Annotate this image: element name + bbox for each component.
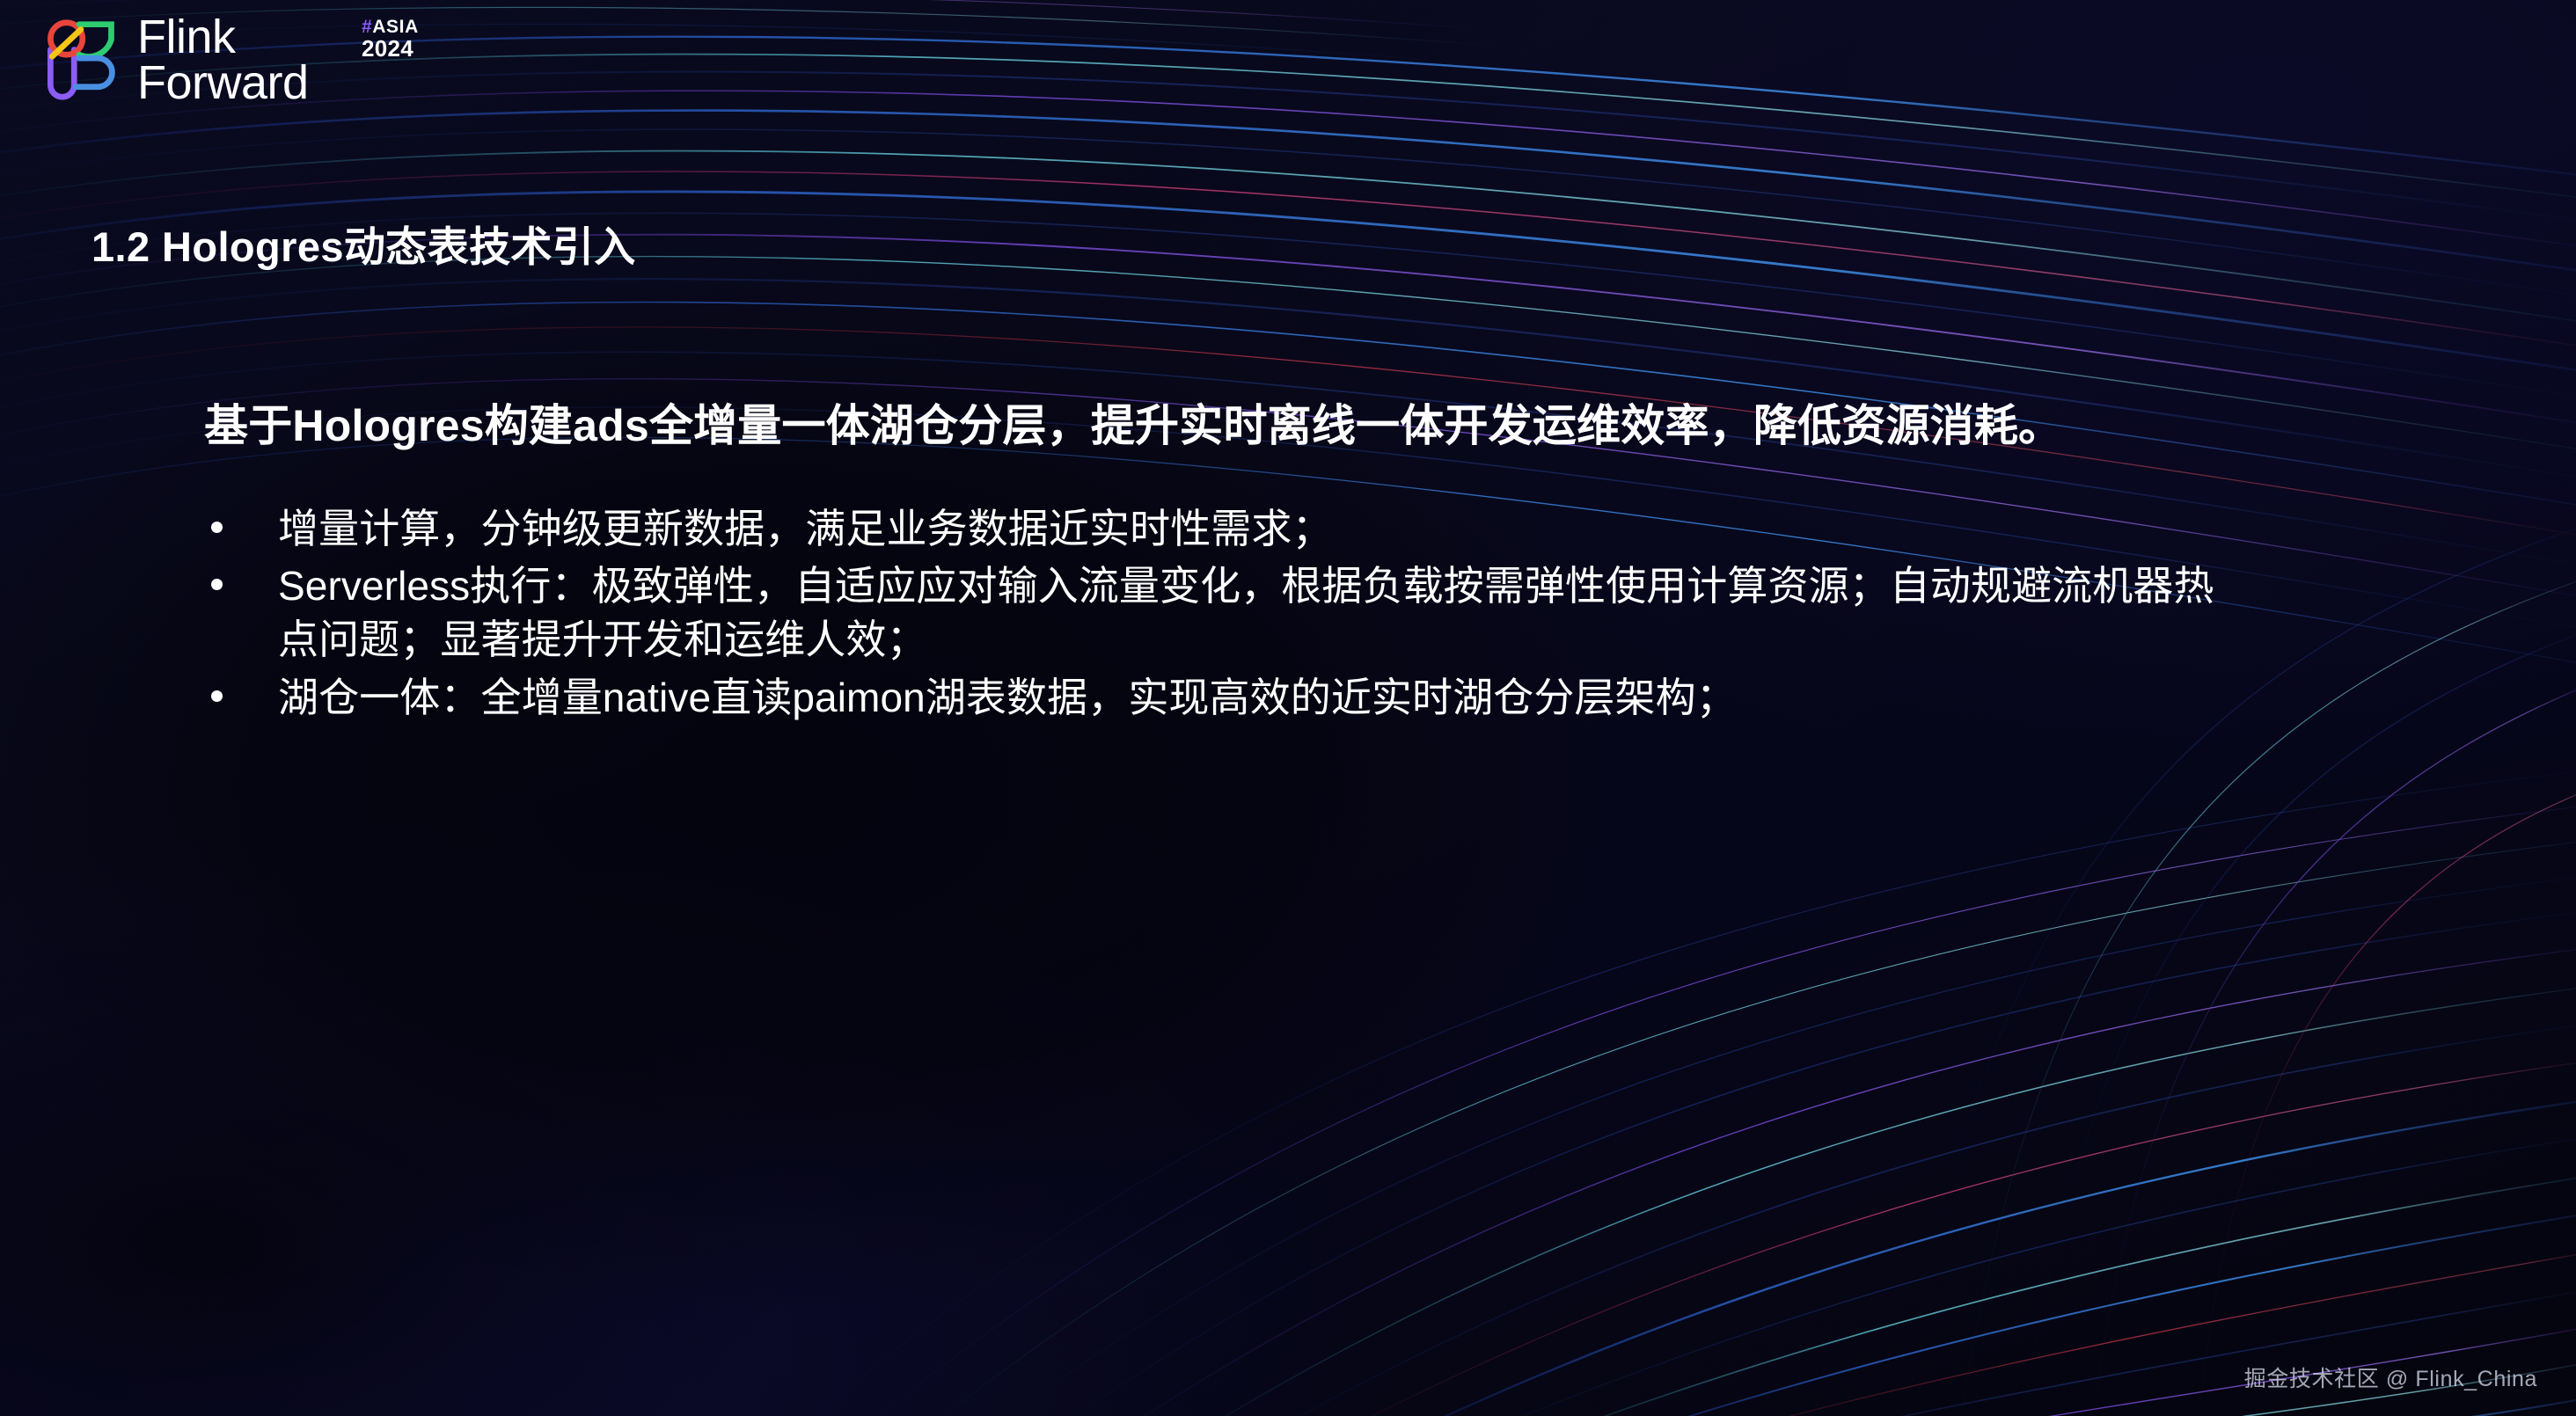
- logo-text-line-1: Flink: [137, 16, 309, 60]
- hash-icon: #: [362, 17, 372, 37]
- list-item-text: 增量计算，分钟级更新数据，满足业务数据近实时性需求；: [278, 506, 1333, 551]
- page-title: 1.2 Hologres动态表技术引入: [91, 213, 636, 274]
- flink-forward-wordmark: Flink Forward #ASIA 2024: [137, 14, 309, 105]
- badge-year-text: 2024: [362, 37, 419, 60]
- bullet-dot-icon: [211, 579, 223, 590]
- list-item-text: 湖仓一体：全增量native直读paimon湖表数据，实现高效的近实时湖仓分层架…: [278, 675, 1737, 720]
- logo-text-line-2: Forward: [137, 62, 309, 106]
- badge-region-text: ASIA: [372, 17, 419, 37]
- slide-body: 基于Hologres构建ads全增量一体湖仓分层，提升实时离线一体开发运维效率，…: [204, 398, 2316, 728]
- list-item: 湖仓一体：全增量native直读paimon湖表数据，实现高效的近实时湖仓分层架…: [204, 671, 2231, 725]
- watermark: 掘金技术社区 @ Flink_China: [2244, 1361, 2537, 1393]
- slide-canvas: Flink Forward #ASIA 2024 1.2 Hologres动态表…: [0, 0, 2576, 1416]
- lead-paragraph: 基于Hologres构建ads全增量一体湖仓分层，提升实时离线一体开发运维效率，…: [204, 398, 2184, 455]
- logo-event-badge: #ASIA 2024: [362, 18, 419, 60]
- bullet-dot-icon: [211, 690, 223, 702]
- badge-region-line: #ASIA: [362, 18, 419, 36]
- bullet-list: 增量计算，分钟级更新数据，满足业务数据近实时性需求； Serverless执行：…: [204, 502, 2316, 725]
- list-item: 增量计算，分钟级更新数据，满足业务数据近实时性需求；: [204, 502, 2231, 556]
- flink-forward-logo: Flink Forward #ASIA 2024: [37, 14, 309, 105]
- list-item-text: Serverless执行：极致弹性，自适应应对输入流量变化，根据负载按需弹性使用…: [278, 563, 2214, 662]
- list-item: Serverless执行：极致弹性，自适应应对输入流量变化，根据负载按需弹性使用…: [204, 559, 2231, 667]
- bullet-dot-icon: [211, 522, 223, 533]
- flink-forward-logo-mark-icon: [37, 16, 121, 104]
